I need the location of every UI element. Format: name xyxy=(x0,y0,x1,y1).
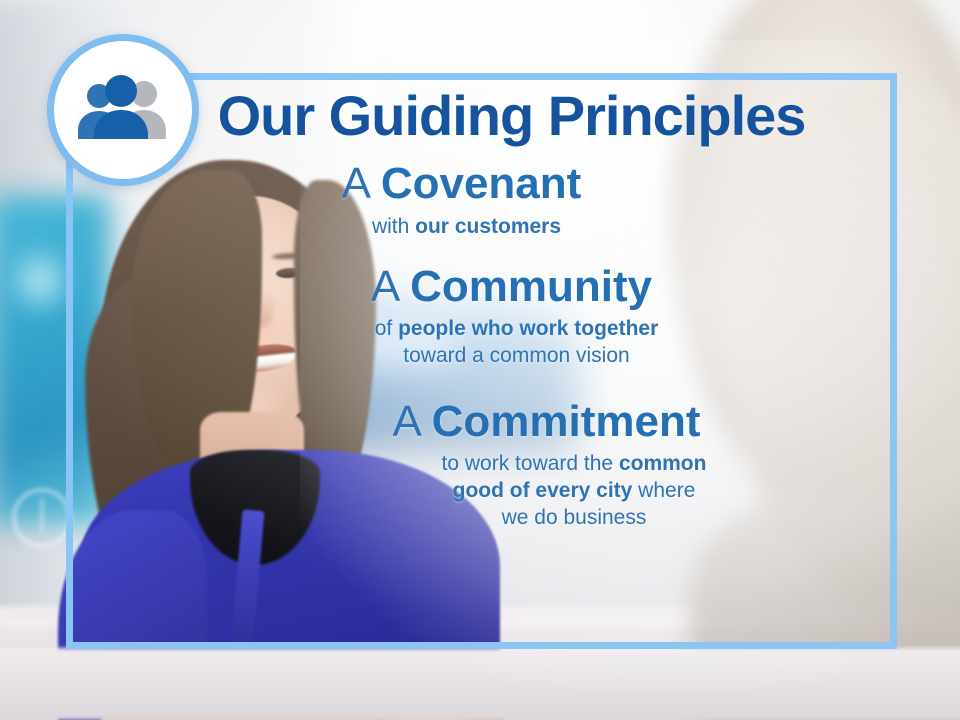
principle-subline: with our customers xyxy=(106,214,857,241)
principle-keyword: Covenant xyxy=(381,159,581,208)
table-foreground xyxy=(0,648,960,720)
subline-normal-before: we do business xyxy=(502,506,647,529)
subline-bold: good of every city xyxy=(453,479,633,502)
subline-bold: our customers xyxy=(415,215,561,238)
principle-article: A xyxy=(371,262,398,311)
subline-normal-after: where xyxy=(632,479,695,502)
principle-commitment: A Commitment to work toward the common g… xyxy=(106,398,857,532)
subline-row: of people who work together xyxy=(176,316,857,343)
subline-row: toward a common vision xyxy=(176,343,857,370)
subline-normal-before: of xyxy=(375,317,398,340)
subline-normal-before: with xyxy=(372,215,415,238)
subline-row: to work toward the common xyxy=(291,451,857,478)
subline-normal-before: to work toward the xyxy=(442,452,619,475)
principle-article: A xyxy=(392,397,419,446)
guiding-principles-graphic: FLOW FLOW AUTOMOTIVE Our Guiding Princip… xyxy=(0,0,960,720)
principle-heading: A Covenant xyxy=(106,160,857,208)
guiding-principles-badge xyxy=(47,34,199,186)
page-title: Our Guiding Principles xyxy=(106,87,857,144)
principle-heading: A Commitment xyxy=(106,398,857,446)
subline-bold: people who work together xyxy=(398,317,658,340)
principle-subline: to work toward the common good of every … xyxy=(106,451,857,532)
subline-bold: common xyxy=(619,452,707,475)
principle-keyword: Community xyxy=(410,262,652,311)
principle-covenant: A Covenant with our customers xyxy=(106,160,857,240)
principle-subline: of people who work together toward a com… xyxy=(106,316,857,370)
principle-heading: A Community xyxy=(106,263,857,311)
subline-row: good of every city where xyxy=(291,478,857,505)
principle-article: A xyxy=(342,159,369,208)
subline-row: we do business xyxy=(291,505,857,532)
principle-community: A Community of people who work together … xyxy=(106,263,857,370)
principle-keyword: Commitment xyxy=(432,397,701,446)
people-group-icon xyxy=(71,75,175,145)
subline-normal-before: toward a common vision xyxy=(403,344,629,367)
content-area: Our Guiding Principles A Covenant with o… xyxy=(66,73,897,649)
